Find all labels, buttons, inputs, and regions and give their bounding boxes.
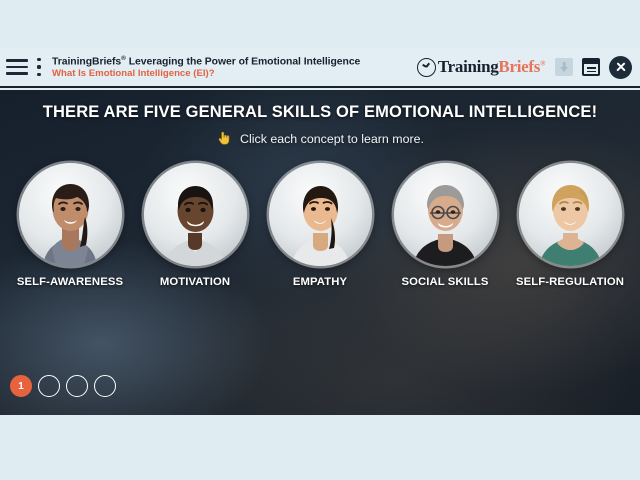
lesson-title[interactable]: What Is Emotional Intelligence (EI)? [52, 69, 417, 80]
hamburger-line [6, 59, 28, 62]
logo-wordmark: TrainingBriefs® [438, 57, 545, 77]
hamburger-line [6, 66, 28, 69]
close-icon[interactable] [609, 56, 632, 79]
slide-stage: THERE ARE FIVE GENERAL SKILLS OF EMOTION… [0, 90, 640, 415]
kebab-dot [37, 73, 40, 76]
concept-item-empathy[interactable]: EMPATHY [264, 163, 376, 288]
slide-subtitle: Click each concept to learn more. [240, 132, 424, 146]
more-options-icon[interactable] [32, 58, 46, 76]
concept-label: SELF-REGULATION [516, 276, 624, 288]
concept-item-motivation[interactable]: MOTIVATION [139, 163, 251, 288]
pagination-dot-2[interactable] [38, 375, 60, 397]
notes-icon[interactable] [582, 58, 600, 76]
pagination: 1 [10, 375, 116, 397]
notes-line [587, 67, 596, 69]
logo-text-training: Training [438, 57, 499, 76]
logo-registered-mark: ® [540, 59, 545, 67]
course-player: TrainingBriefs® Leveraging the Power of … [0, 0, 640, 480]
course-title: TrainingBriefs® Leveraging the Power of … [52, 55, 417, 68]
portrait-man-glasses-gray-hair-black-top [394, 163, 497, 266]
header-action-icons [555, 56, 632, 79]
portrait-woman-ponytail-white-top [269, 163, 372, 266]
logo-text-briefs: Briefs [498, 57, 540, 76]
pointing-hand-icon [216, 131, 231, 146]
pagination-dot-3[interactable] [66, 375, 88, 397]
pagination-dot-4[interactable] [94, 375, 116, 397]
pagination-dot-1[interactable]: 1 [10, 375, 32, 397]
concept-list: SELF-AWARENESS [0, 163, 640, 288]
portrait-man-smiling-light-blazer [144, 163, 247, 266]
trainingbriefs-logo: TrainingBriefs® [417, 57, 545, 77]
kebab-dot [37, 58, 40, 61]
concept-label: SOCIAL SKILLS [401, 276, 488, 288]
concept-label: EMPATHY [293, 276, 347, 288]
concept-item-self-regulation[interactable]: SELF-REGULATION [514, 163, 626, 288]
hamburger-menu-icon[interactable] [6, 59, 28, 75]
player-header: TrainingBriefs® Leveraging the Power of … [0, 48, 640, 88]
header-title-block: TrainingBriefs® Leveraging the Power of … [52, 54, 417, 80]
course-title-rest: Leveraging the Power of Emotional Intell… [126, 57, 360, 68]
slide-subtitle-row: Click each concept to learn more. [0, 131, 640, 146]
stopwatch-icon [417, 58, 436, 77]
hamburger-line [6, 72, 28, 75]
kebab-dot [37, 65, 40, 68]
course-title-brand: TrainingBriefs [52, 57, 121, 68]
download-icon [555, 58, 573, 76]
concept-label: SELF-AWARENESS [17, 276, 123, 288]
concept-item-social-skills[interactable]: SOCIAL SKILLS [389, 163, 501, 288]
portrait-woman-blonde-teal-top [519, 163, 622, 266]
notes-line [587, 71, 596, 73]
slide-title: THERE ARE FIVE GENERAL SKILLS OF EMOTION… [0, 103, 640, 122]
concept-item-self-awareness[interactable]: SELF-AWARENESS [14, 163, 126, 288]
portrait-woman-dark-hair-gray-top [19, 163, 122, 266]
concept-label: MOTIVATION [160, 276, 230, 288]
